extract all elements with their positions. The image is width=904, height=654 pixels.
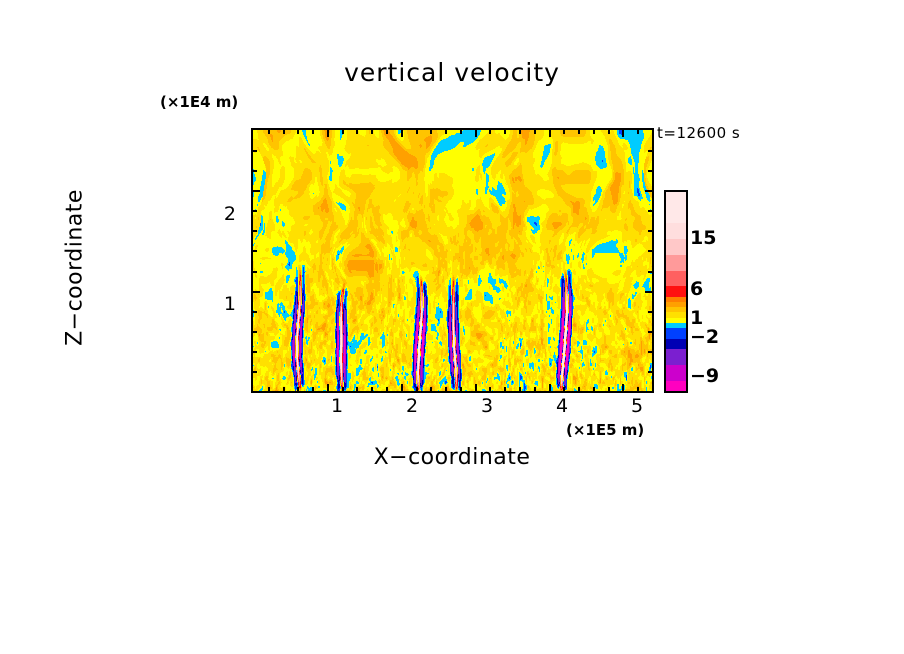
- tick-mark: [253, 371, 257, 373]
- colorbar-label: −9: [690, 365, 719, 387]
- tick-mark: [489, 387, 491, 391]
- tick-mark: [648, 150, 652, 152]
- tick-mark: [563, 387, 565, 391]
- tick-mark: [645, 190, 652, 192]
- tick-mark: [648, 210, 652, 212]
- x-tick-label: 5: [617, 395, 657, 417]
- tick-mark: [430, 387, 432, 391]
- tick-mark: [371, 130, 373, 134]
- tick-mark: [268, 130, 270, 134]
- tick-mark: [648, 170, 652, 172]
- tick-mark: [645, 291, 652, 293]
- tick-mark: [519, 387, 521, 391]
- tick-mark: [648, 311, 652, 313]
- colorbar-label: 15: [690, 227, 716, 249]
- tick-mark: [578, 387, 580, 391]
- tick-mark: [253, 311, 257, 313]
- tick-mark: [648, 250, 652, 252]
- x-axis-title: X−coordinate: [0, 445, 904, 470]
- tick-mark: [622, 384, 624, 391]
- tick-mark: [253, 291, 260, 293]
- tick-mark: [460, 130, 462, 134]
- tick-mark: [356, 130, 358, 134]
- tick-mark: [312, 387, 314, 391]
- tick-mark: [445, 130, 447, 134]
- y-axis-title: Z−coordinate: [63, 138, 88, 398]
- tick-mark: [608, 387, 610, 391]
- tick-mark: [342, 387, 344, 391]
- tick-mark: [327, 130, 329, 137]
- colorbar-label: −2: [690, 326, 719, 348]
- x-tick-label: 3: [467, 395, 507, 417]
- tick-mark: [504, 130, 506, 134]
- tick-mark: [253, 210, 257, 212]
- tick-mark: [593, 387, 595, 391]
- tick-mark: [253, 190, 260, 192]
- page-title: vertical velocity: [0, 58, 904, 87]
- tick-mark: [253, 150, 257, 152]
- tick-mark: [253, 230, 257, 232]
- tick-mark: [416, 387, 418, 391]
- tick-mark: [648, 230, 652, 232]
- tick-mark: [475, 384, 477, 391]
- tick-mark: [253, 170, 257, 172]
- tick-mark: [622, 130, 624, 137]
- colorbar-label: 6: [690, 278, 703, 300]
- tick-mark: [401, 130, 403, 137]
- tick-mark: [253, 271, 257, 273]
- tick-mark: [489, 130, 491, 134]
- velocity-field-heatmap: [253, 130, 652, 391]
- tick-mark: [578, 130, 580, 134]
- y-tick-label: 1: [196, 293, 236, 315]
- tick-mark: [371, 387, 373, 391]
- tick-mark: [519, 130, 521, 134]
- tick-mark: [648, 271, 652, 273]
- tick-mark: [475, 130, 477, 137]
- tick-mark: [534, 130, 536, 134]
- tick-mark: [549, 384, 551, 391]
- tick-mark: [312, 130, 314, 134]
- tick-mark: [253, 351, 257, 353]
- colorbar: [666, 192, 686, 391]
- tick-mark: [327, 384, 329, 391]
- y-tick-label: 2: [196, 203, 236, 225]
- tick-mark: [430, 130, 432, 134]
- tick-mark: [386, 130, 388, 134]
- tick-mark: [648, 371, 652, 373]
- tick-mark: [416, 130, 418, 134]
- tick-mark: [445, 387, 447, 391]
- tick-mark: [356, 387, 358, 391]
- tick-mark: [549, 130, 551, 137]
- tick-mark: [386, 387, 388, 391]
- tick-mark: [268, 387, 270, 391]
- tick-mark: [637, 387, 639, 391]
- tick-mark: [563, 130, 565, 134]
- y-axis-unit-label: (×1E4 m): [160, 93, 238, 111]
- timestamp-annotation: t=12600 s: [657, 124, 740, 142]
- tick-mark: [283, 130, 285, 134]
- tick-mark: [401, 384, 403, 391]
- tick-mark: [593, 130, 595, 134]
- tick-mark: [637, 130, 639, 134]
- tick-mark: [253, 250, 257, 252]
- tick-mark: [608, 130, 610, 134]
- tick-mark: [648, 351, 652, 353]
- tick-mark: [253, 331, 257, 333]
- tick-mark: [297, 130, 299, 134]
- x-tick-label: 1: [317, 395, 357, 417]
- tick-mark: [534, 387, 536, 391]
- tick-mark: [460, 387, 462, 391]
- tick-mark: [297, 387, 299, 391]
- tick-mark: [342, 130, 344, 134]
- x-tick-label: 4: [542, 395, 582, 417]
- x-axis-unit-label: (×1E5 m): [566, 421, 644, 439]
- tick-mark: [504, 387, 506, 391]
- tick-mark: [283, 387, 285, 391]
- x-tick-label: 2: [392, 395, 432, 417]
- tick-mark: [648, 331, 652, 333]
